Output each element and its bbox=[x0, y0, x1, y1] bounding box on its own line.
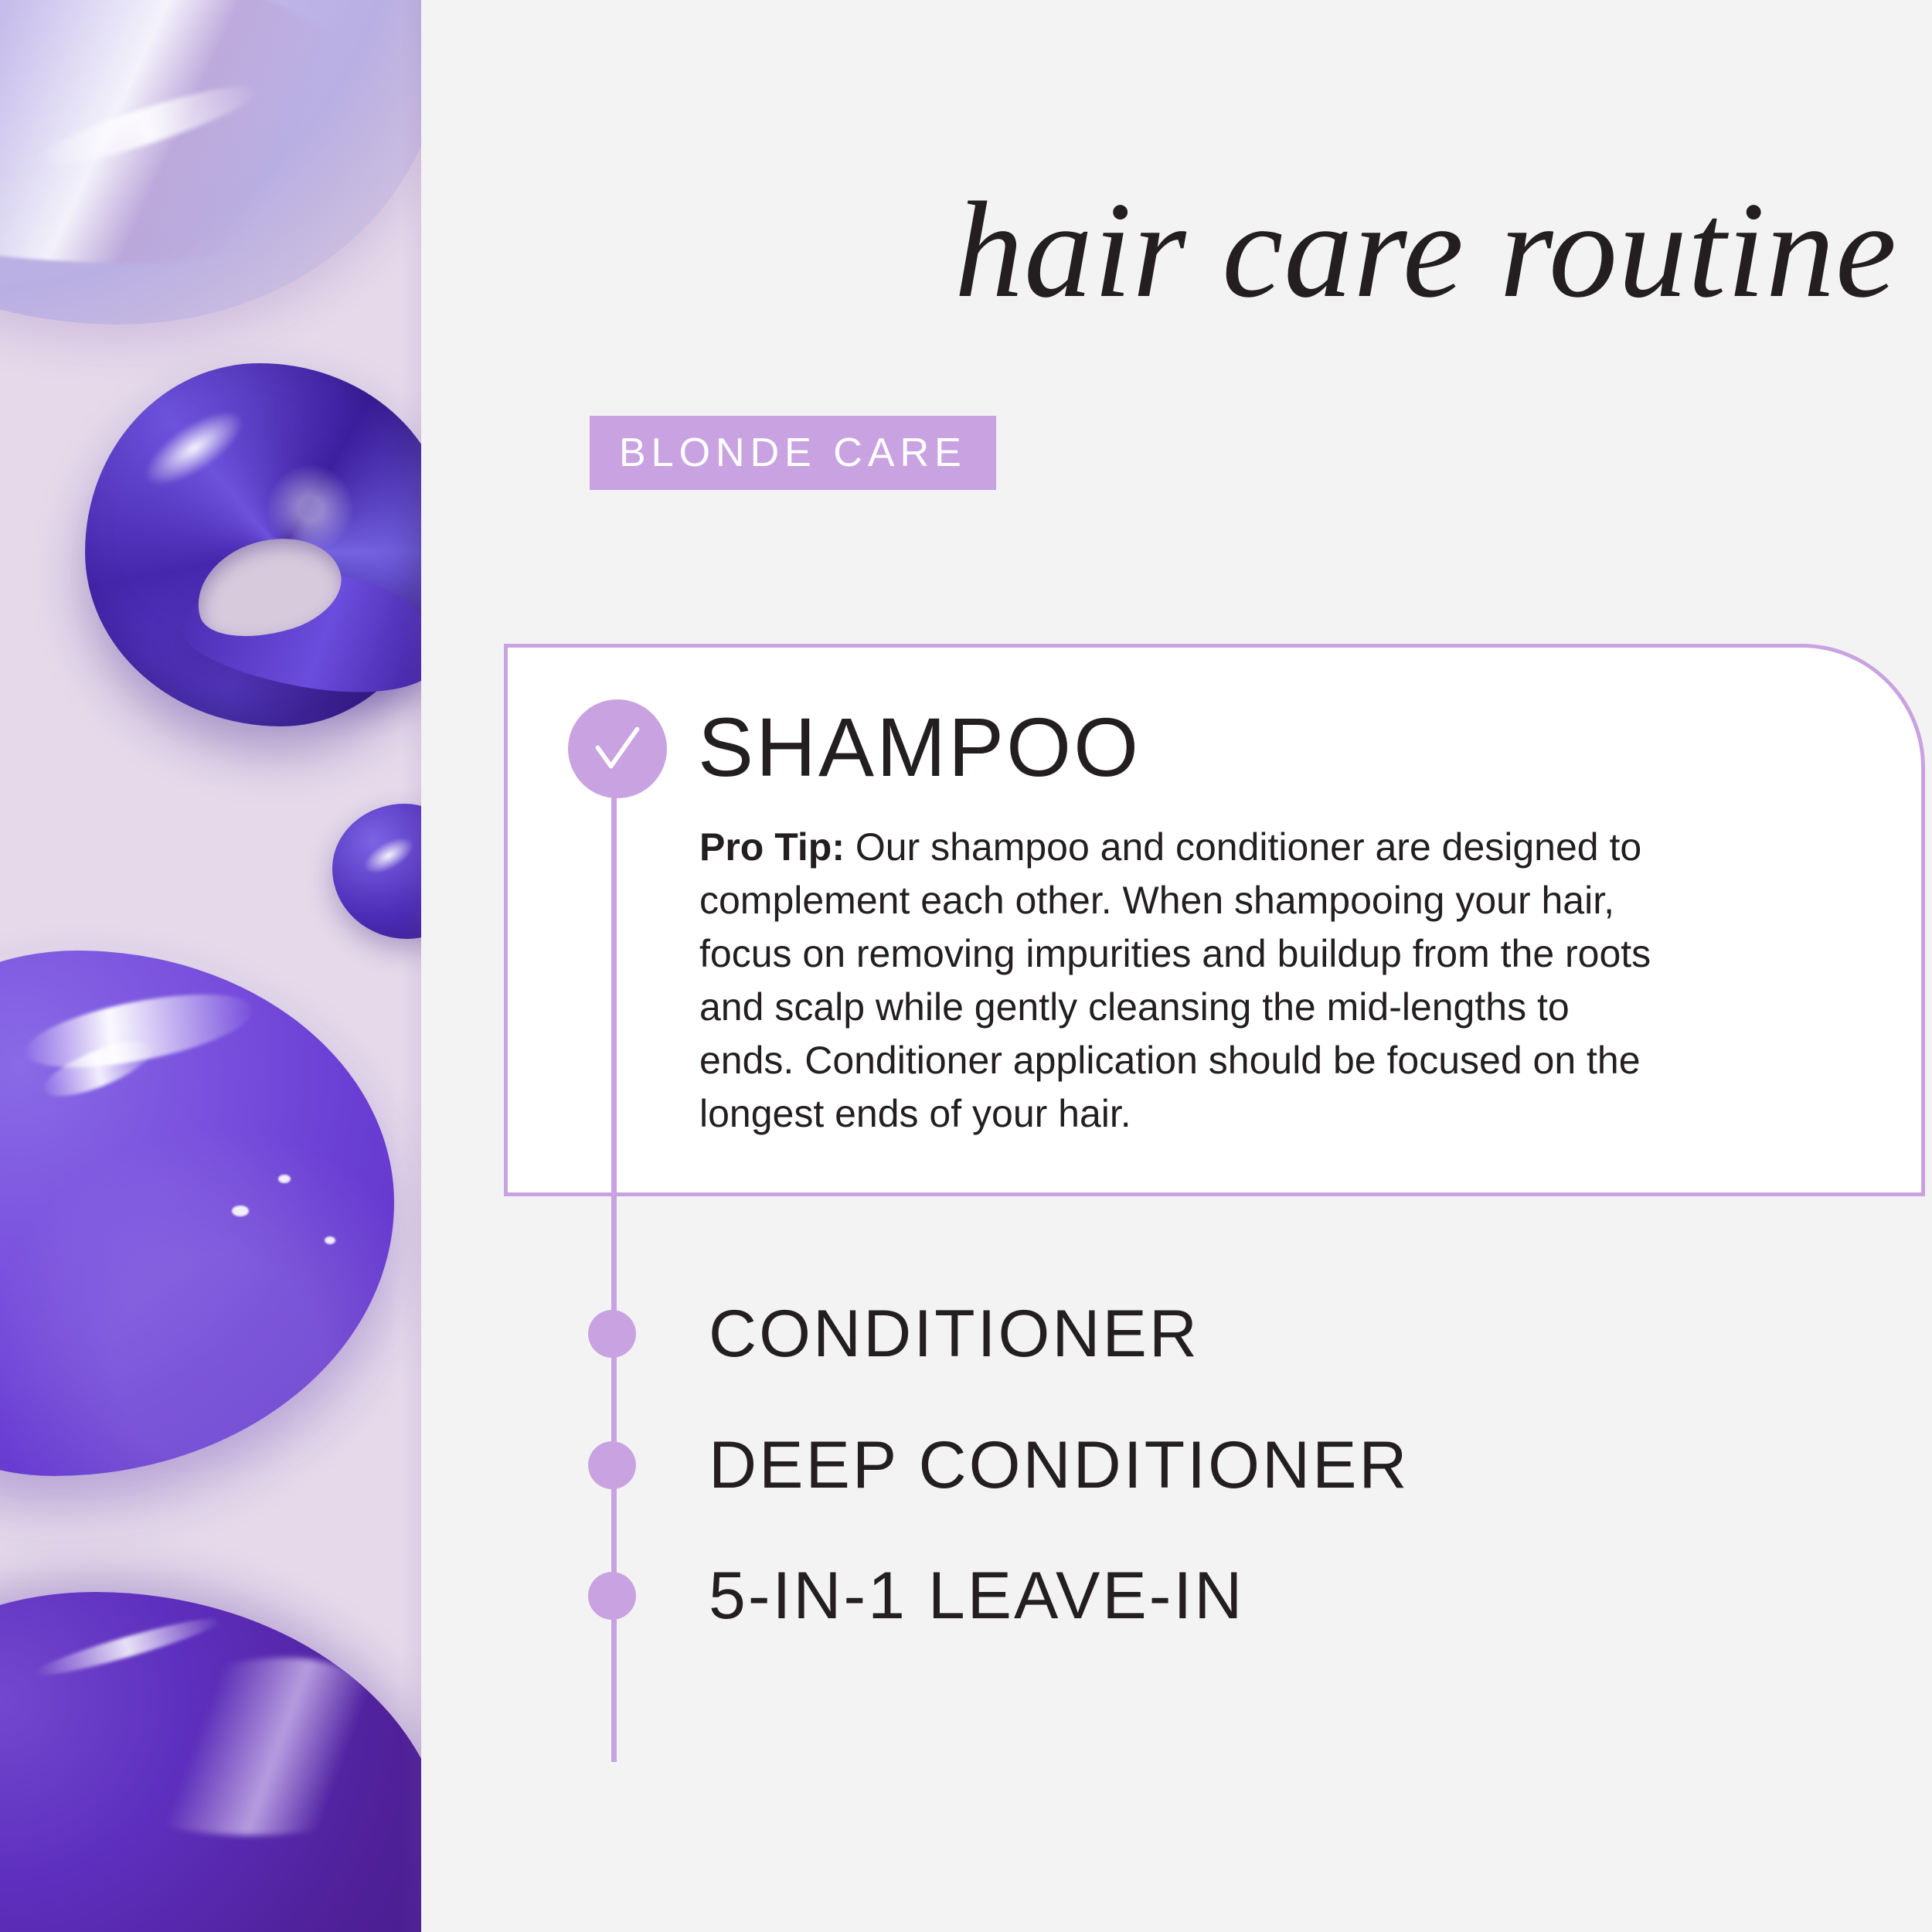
active-step-title: SHAMPOO bbox=[698, 706, 1141, 789]
violet-gel-speck-1 bbox=[232, 1206, 249, 1216]
timeline-dot-icon bbox=[588, 1310, 636, 1358]
status-badge: BLONDE CARE bbox=[590, 416, 996, 490]
violet-gel-speck-2 bbox=[278, 1175, 291, 1183]
timeline-step-label: 5-IN-1 LEAVE-IN bbox=[709, 1563, 1244, 1629]
strip-edge-shadow bbox=[401, 0, 421, 1932]
timeline-step-leave-in[interactable]: 5-IN-1 LEAVE-IN bbox=[588, 1563, 1244, 1629]
timeline-step-label: DEEP CONDITIONER bbox=[709, 1432, 1410, 1498]
timeline-step-conditioner[interactable]: CONDITIONER bbox=[588, 1301, 1199, 1367]
routine-panel: hair care routine BLONDE CARE SHAMPOO Pr… bbox=[421, 0, 1932, 1932]
pro-tip-body: Our shampoo and conditioner are designed… bbox=[699, 825, 1651, 1135]
timeline-dot-icon bbox=[588, 1572, 636, 1620]
page-title: hair care routine bbox=[583, 181, 1897, 318]
timeline-step-deep-conditioner[interactable]: DEEP CONDITIONER bbox=[588, 1432, 1410, 1498]
status-badge-label: BLONDE CARE bbox=[619, 430, 967, 476]
pro-tip-text: Pro Tip: Our shampoo and conditioner are… bbox=[699, 821, 1658, 1141]
timeline-step-label: CONDITIONER bbox=[709, 1301, 1199, 1367]
check-icon bbox=[568, 699, 667, 798]
pro-tip-label: Pro Tip: bbox=[699, 825, 845, 869]
timeline-dot-icon bbox=[588, 1441, 636, 1489]
violet-gel-speck-3 bbox=[325, 1236, 335, 1244]
product-texture-strip bbox=[0, 0, 421, 1932]
